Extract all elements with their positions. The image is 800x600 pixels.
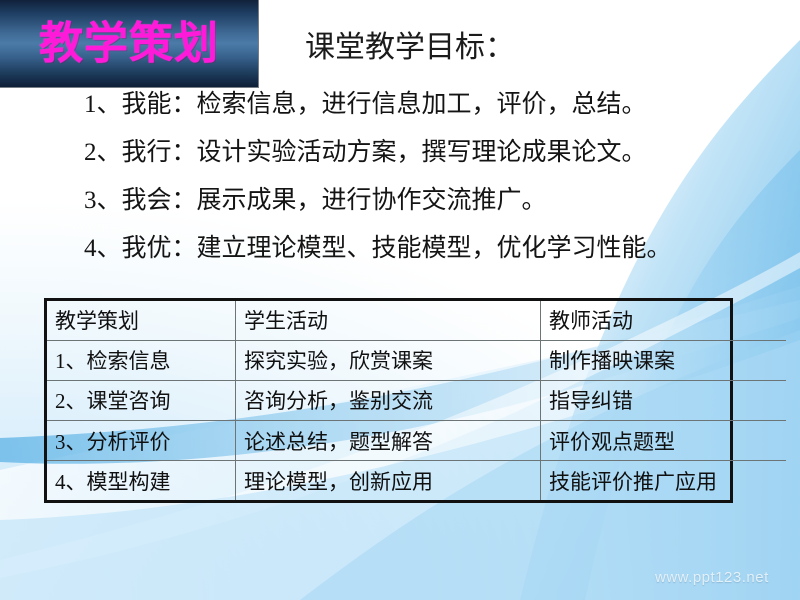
table-row: 3、分析评价 论述总结，题型解答 评价观点题型 xyxy=(47,421,786,461)
header-badge-label: 教学策划 xyxy=(39,22,219,66)
page-title: 课堂教学目标： xyxy=(305,33,515,63)
table-header-row: 教学策划 学生活动 教师活动 xyxy=(47,301,786,340)
table-header-cell: 教师活动 xyxy=(541,301,787,340)
list-item: 2、我行：设计实验活动方案，撰写理论成果论文。 xyxy=(84,140,764,165)
teaching-strategy-table: 教学策划 学生活动 教师活动 1、检索信息 探究实验，欣赏课案 制作播映课案 2… xyxy=(44,298,733,503)
list-item: 4、我优：建立理论模型、技能模型，优化学习性能。 xyxy=(84,236,764,261)
table-row: 1、检索信息 探究实验，欣赏课案 制作播映课案 xyxy=(47,340,786,380)
header-badge: 教学策划 xyxy=(0,0,258,87)
table-header-cell: 教学策划 xyxy=(47,301,236,340)
table-cell-student: 探究实验，欣赏课案 xyxy=(236,340,541,380)
table-cell-student: 理论模型，创新应用 xyxy=(236,461,541,500)
list-item: 1、我能：检索信息，进行信息加工，评价，总结。 xyxy=(84,92,764,117)
table-row: 2、课堂咨询 咨询分析，鉴别交流 指导纠错 xyxy=(47,380,786,420)
table-cell-strategy: 1、检索信息 xyxy=(47,340,236,380)
table-cell-strategy: 4、模型构建 xyxy=(47,461,236,500)
table-cell-teacher: 评价观点题型 xyxy=(541,421,787,461)
presentation-slide: 教学策划 课堂教学目标： 1、我能：检索信息，进行信息加工，评价，总结。 2、我… xyxy=(0,0,800,600)
table-row: 4、模型构建 理论模型，创新应用 技能评价推广应用 xyxy=(47,461,786,500)
table-cell-teacher: 技能评价推广应用 xyxy=(541,461,787,500)
table-cell-strategy: 3、分析评价 xyxy=(47,421,236,461)
table-cell-student: 论述总结，题型解答 xyxy=(236,421,541,461)
table-cell-strategy: 2、课堂咨询 xyxy=(47,380,236,420)
list-item: 3、我会：展示成果，进行协作交流推广。 xyxy=(84,188,764,213)
table-cell-student: 咨询分析，鉴别交流 xyxy=(236,380,541,420)
table-header-cell: 学生活动 xyxy=(236,301,541,340)
table-cell-teacher: 指导纠错 xyxy=(541,380,787,420)
table-cell-teacher: 制作播映课案 xyxy=(541,340,787,380)
objectives-list: 1、我能：检索信息，进行信息加工，评价，总结。 2、我行：设计实验活动方案，撰写… xyxy=(84,92,764,284)
site-watermark: www.ppt123.net xyxy=(655,569,769,586)
